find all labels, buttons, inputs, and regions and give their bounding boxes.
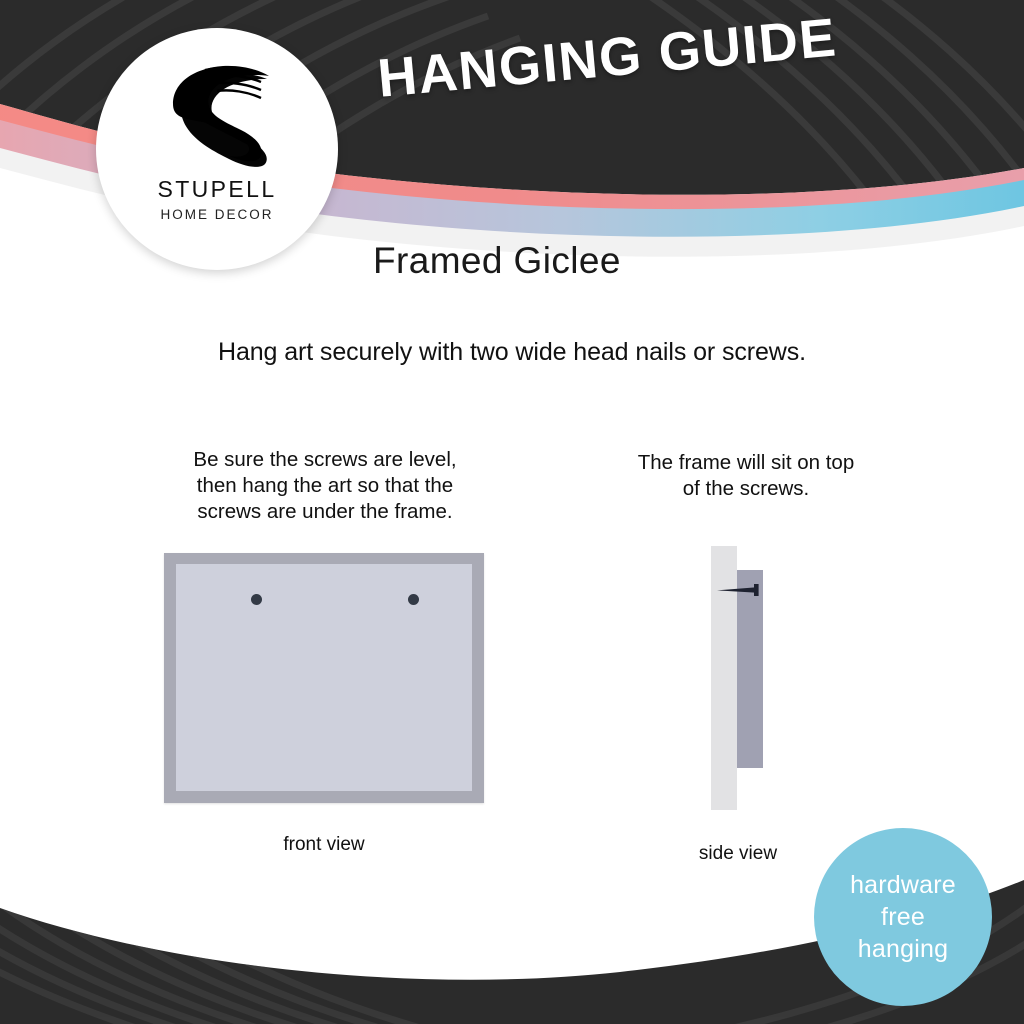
caption-line: Be sure the screws are level, (160, 447, 490, 473)
brand-name: STUPELL (157, 176, 276, 203)
frame-mat-area (176, 564, 472, 791)
brand-logo-badge: STUPELL HOME DECOR (96, 28, 338, 270)
screw-dot-right (408, 594, 419, 605)
caption-line: of the screws. (598, 476, 894, 502)
side-view-frame (737, 570, 763, 768)
side-view-label: side view (640, 843, 836, 865)
product-name: Framed Giclee (373, 240, 621, 282)
brand-subtitle: HOME DECOR (160, 207, 273, 222)
badge-line: free (881, 901, 925, 933)
lead-instruction: Hang art securely with two wide head nai… (0, 338, 1024, 367)
caption-line: then hang the art so that the (160, 473, 490, 499)
hanging-guide-page: STUPELL HOME DECOR HANGING GUIDE Framed … (0, 0, 1024, 1024)
front-view-caption: Be sure the screws are level, then hang … (160, 447, 490, 525)
screw-dot-left (251, 594, 262, 605)
badge-line: hardware (850, 869, 956, 901)
nail-icon (715, 583, 763, 597)
hardware-free-badge: hardware free hanging (814, 828, 992, 1006)
front-view-label: front view (164, 834, 484, 856)
caption-line: The frame will sit on top (598, 450, 894, 476)
stupell-swoosh-icon (151, 52, 283, 170)
badge-line: hanging (858, 933, 948, 965)
side-view-caption: The frame will sit on top of the screws. (598, 450, 894, 502)
front-view-frame-diagram (164, 553, 484, 803)
caption-line: screws are under the frame. (160, 499, 490, 525)
page-title: HANGING GUIDE (375, 6, 839, 109)
